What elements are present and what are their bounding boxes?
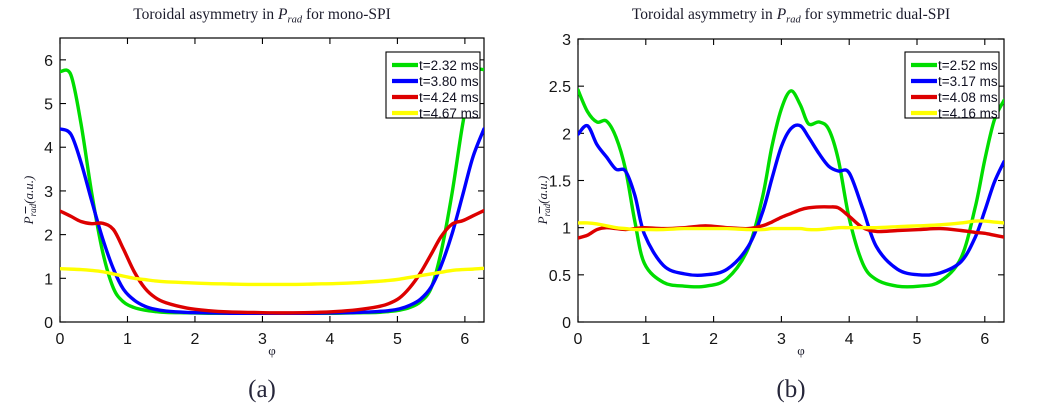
x-tick-label: 0	[56, 331, 65, 348]
x-tick-label: 4	[325, 331, 334, 348]
x-tick-label: 0	[574, 331, 583, 348]
panel-a-title-group: Toroidal asymmetry in Prad for mono-SPI	[133, 6, 391, 26]
panel-a-ylabel-group: Prad(a.u.)	[21, 176, 38, 226]
y-tick-label: 4	[44, 140, 53, 157]
y-tick-label: 2	[44, 228, 53, 245]
panel-b-xlabel: φ	[797, 343, 805, 358]
y-tick-label: 0.5	[549, 268, 571, 285]
legend-label-3: t=4.67 ms	[419, 106, 479, 121]
y-tick-label: 3	[562, 32, 571, 49]
y-tick-label: 2.5	[549, 79, 571, 96]
y-tick-label: 0	[562, 315, 571, 332]
x-tick-label: 1	[123, 331, 132, 348]
panel-a-xlabel: φ	[268, 343, 276, 358]
y-tick-label: 3	[44, 184, 53, 201]
legend-label-2: t=4.24 ms	[419, 90, 479, 105]
x-tick-label: 3	[777, 331, 786, 348]
figure-container: Toroidal asymmetry in Prad for mono-SPI …	[0, 0, 1046, 410]
legend-label-0: t=2.32 ms	[419, 58, 479, 73]
panel-a-title: Toroidal asymmetry in Prad for mono-SPI	[133, 6, 391, 26]
y-tick-label: 1	[44, 271, 53, 288]
y-tick-label: 6	[44, 53, 53, 70]
panel-a: Toroidal asymmetry in Prad for mono-SPI …	[0, 0, 523, 410]
x-tick-label: 4	[845, 331, 854, 348]
legend-label-0: t=2.52 ms	[938, 58, 998, 73]
panel-b-title-group: Toroidal asymmetry in Prad for symmetric…	[632, 6, 950, 26]
legend-label-2: t=4.08 ms	[938, 90, 998, 105]
legend: t=2.32 mst=3.80 mst=4.24 mst=4.67 ms	[386, 52, 480, 121]
panel-a-plot-area: 01234560123456t=2.32 mst=3.80 mst=4.24 m…	[44, 38, 484, 348]
panel-a-chart: Toroidal asymmetry in Prad for mono-SPI …	[0, 0, 523, 410]
y-tick-label: 1.5	[549, 174, 571, 191]
x-tick-label: 2	[709, 331, 718, 348]
x-tick-label: 2	[191, 331, 200, 348]
legend-label-1: t=3.80 ms	[419, 74, 479, 89]
panel-a-ylabel: Prad(a.u.)	[21, 176, 38, 226]
y-tick-label: 5	[44, 97, 53, 114]
panel-b: Toroidal asymmetry in Prad for symmetric…	[523, 0, 1046, 410]
y-tick-label: 0	[44, 315, 53, 332]
panel-b-plot-area: 012345600.511.522.53t=2.52 mst=3.17 mst=…	[549, 32, 1004, 348]
x-tick-label: 1	[641, 331, 650, 348]
legend-label-3: t=4.16 ms	[938, 106, 998, 121]
y-tick-label: 1	[562, 221, 571, 238]
legend: t=2.52 mst=3.17 mst=4.08 mst=4.16 ms	[905, 52, 999, 121]
x-tick-label: 5	[393, 331, 402, 348]
x-tick-label: 5	[913, 331, 922, 348]
y-tick-label: 2	[562, 126, 571, 143]
panel-a-caption: (a)	[248, 376, 276, 403]
panel-b-caption: (b)	[776, 376, 805, 403]
x-tick-label: 6	[980, 331, 989, 348]
legend-label-1: t=3.17 ms	[938, 74, 998, 89]
x-tick-label: 6	[460, 331, 469, 348]
x-tick-label: 3	[258, 331, 267, 348]
panel-b-title: Toroidal asymmetry in Prad for symmetric…	[632, 6, 950, 26]
panel-b-chart: Toroidal asymmetry in Prad for symmetric…	[523, 0, 1046, 410]
